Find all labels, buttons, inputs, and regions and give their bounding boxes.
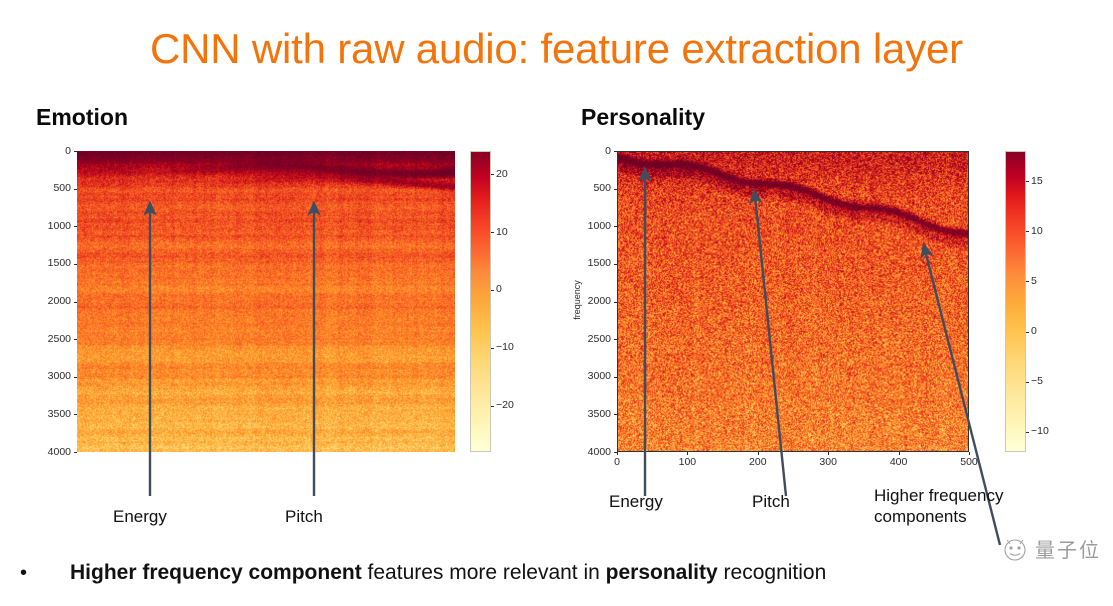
colorbar-tick-mark bbox=[491, 232, 494, 233]
y-tick-label: 4000 bbox=[15, 447, 71, 458]
x-tick-label: 400 bbox=[874, 457, 924, 468]
bullet-tail: recognition bbox=[718, 561, 827, 584]
y-tick-mark bbox=[614, 151, 617, 152]
colorbar-tick-mark bbox=[1026, 231, 1029, 232]
colorbar-tick-label: −10 bbox=[1031, 426, 1049, 437]
y-tick-label: 3000 bbox=[555, 371, 611, 382]
bullet-row: • Higher frequency component features mo… bbox=[14, 560, 1094, 586]
panel-heading-emotion: Emotion bbox=[36, 104, 128, 130]
colorbar-tick-mark bbox=[491, 406, 494, 407]
label-personality-pitch: Pitch bbox=[752, 491, 790, 512]
y-tick-mark bbox=[614, 189, 617, 190]
y-tick-label: 2000 bbox=[15, 296, 71, 307]
x-tick-label: 300 bbox=[803, 457, 853, 468]
y-tick-mark bbox=[74, 226, 77, 227]
y-tick-label: 0 bbox=[15, 146, 71, 157]
y-tick-mark bbox=[614, 339, 617, 340]
colorbar-tick-label: 5 bbox=[1031, 276, 1037, 287]
bullet-bold-2: personality bbox=[606, 561, 718, 584]
y-tick-label: 2000 bbox=[555, 296, 611, 307]
bullet-bold-1: Higher frequency component bbox=[70, 561, 362, 584]
colorbar-tick-mark bbox=[1026, 281, 1029, 282]
y-tick-mark bbox=[74, 414, 77, 415]
x-tick-label: 500 bbox=[944, 457, 994, 468]
y-tick-mark bbox=[74, 151, 77, 152]
label-emotion-pitch: Pitch bbox=[285, 506, 323, 527]
y-tick-label: 1500 bbox=[15, 258, 71, 269]
label-personality-energy: Energy bbox=[609, 491, 663, 512]
smiley-face-icon bbox=[1000, 536, 1030, 562]
label-personality-higher-frequency: Higher frequency components bbox=[874, 485, 1003, 527]
emotion-heatmap bbox=[77, 151, 455, 452]
y-tick-label: 3000 bbox=[15, 371, 71, 382]
y-tick-label: 1000 bbox=[15, 221, 71, 232]
y-tick-mark bbox=[74, 189, 77, 190]
colorbar-tick-label: −20 bbox=[496, 400, 514, 411]
x-tick-mark bbox=[617, 452, 618, 455]
colorbar-tick-mark bbox=[1026, 382, 1029, 383]
colorbar-tick-mark bbox=[1026, 181, 1029, 182]
y-tick-mark bbox=[74, 264, 77, 265]
y-tick-mark bbox=[74, 302, 77, 303]
x-tick-mark bbox=[758, 452, 759, 455]
personality-colorbar bbox=[1005, 151, 1026, 452]
x-tick-mark bbox=[828, 452, 829, 455]
x-tick-mark bbox=[687, 452, 688, 455]
y-tick-label: 500 bbox=[15, 183, 71, 194]
bullet-text: Higher frequency component features more… bbox=[70, 560, 826, 586]
colorbar-tick-label: −10 bbox=[496, 342, 514, 353]
colorbar-tick-label: 0 bbox=[1031, 326, 1037, 337]
y-tick-mark bbox=[614, 226, 617, 227]
y-tick-label: 500 bbox=[555, 183, 611, 194]
y-tick-mark bbox=[614, 377, 617, 378]
colorbar-tick-label: −5 bbox=[1031, 376, 1043, 387]
page-title: CNN with raw audio: feature extraction l… bbox=[0, 24, 1113, 74]
colorbar-tick-label: 15 bbox=[1031, 176, 1043, 187]
panel-heading-personality: Personality bbox=[581, 104, 705, 130]
x-tick-label: 200 bbox=[733, 457, 783, 468]
colorbar-tick-label: 20 bbox=[496, 169, 508, 180]
slide-canvas: CNN with raw audio: feature extraction l… bbox=[0, 0, 1113, 606]
y-tick-label: 4000 bbox=[555, 447, 611, 458]
colorbar-tick-label: 10 bbox=[1031, 226, 1043, 237]
y-tick-label: 3500 bbox=[555, 409, 611, 420]
colorbar-tick-mark bbox=[491, 348, 494, 349]
bullet-marker: • bbox=[14, 562, 70, 585]
y-tick-mark bbox=[74, 339, 77, 340]
y-tick-mark bbox=[614, 414, 617, 415]
y-tick-label: 2500 bbox=[555, 334, 611, 345]
colorbar-tick-label: 10 bbox=[496, 227, 508, 238]
x-tick-mark bbox=[969, 452, 970, 455]
y-tick-label: 1000 bbox=[555, 221, 611, 232]
y-tick-mark bbox=[614, 302, 617, 303]
y-tick-mark bbox=[74, 452, 77, 453]
y-tick-mark bbox=[614, 264, 617, 265]
y-tick-label: 2500 bbox=[15, 334, 71, 345]
y-tick-label: 1500 bbox=[555, 258, 611, 269]
colorbar-tick-mark bbox=[491, 174, 494, 175]
x-tick-label: 100 bbox=[662, 457, 712, 468]
y-tick-mark bbox=[74, 377, 77, 378]
watermark-text: 量子位 bbox=[1035, 534, 1101, 563]
personality-y-axis-title: frequency bbox=[572, 280, 582, 320]
colorbar-tick-mark bbox=[491, 290, 494, 291]
personality-colorbar-gradient bbox=[1006, 152, 1025, 451]
x-tick-mark bbox=[899, 452, 900, 455]
x-tick-label: 0 bbox=[592, 457, 642, 468]
colorbar-tick-mark bbox=[1026, 332, 1029, 333]
emotion-colorbar bbox=[470, 151, 491, 452]
colorbar-tick-label: 0 bbox=[496, 284, 502, 295]
personality-heatmap bbox=[617, 151, 969, 452]
y-tick-label: 3500 bbox=[15, 409, 71, 420]
watermark: 量子位 bbox=[1000, 534, 1101, 563]
y-tick-label: 0 bbox=[555, 146, 611, 157]
emotion-colorbar-gradient bbox=[471, 152, 490, 451]
bullet-mid: features more relevant in bbox=[362, 561, 606, 584]
label-emotion-energy: Energy bbox=[113, 506, 167, 527]
colorbar-tick-mark bbox=[1026, 432, 1029, 433]
